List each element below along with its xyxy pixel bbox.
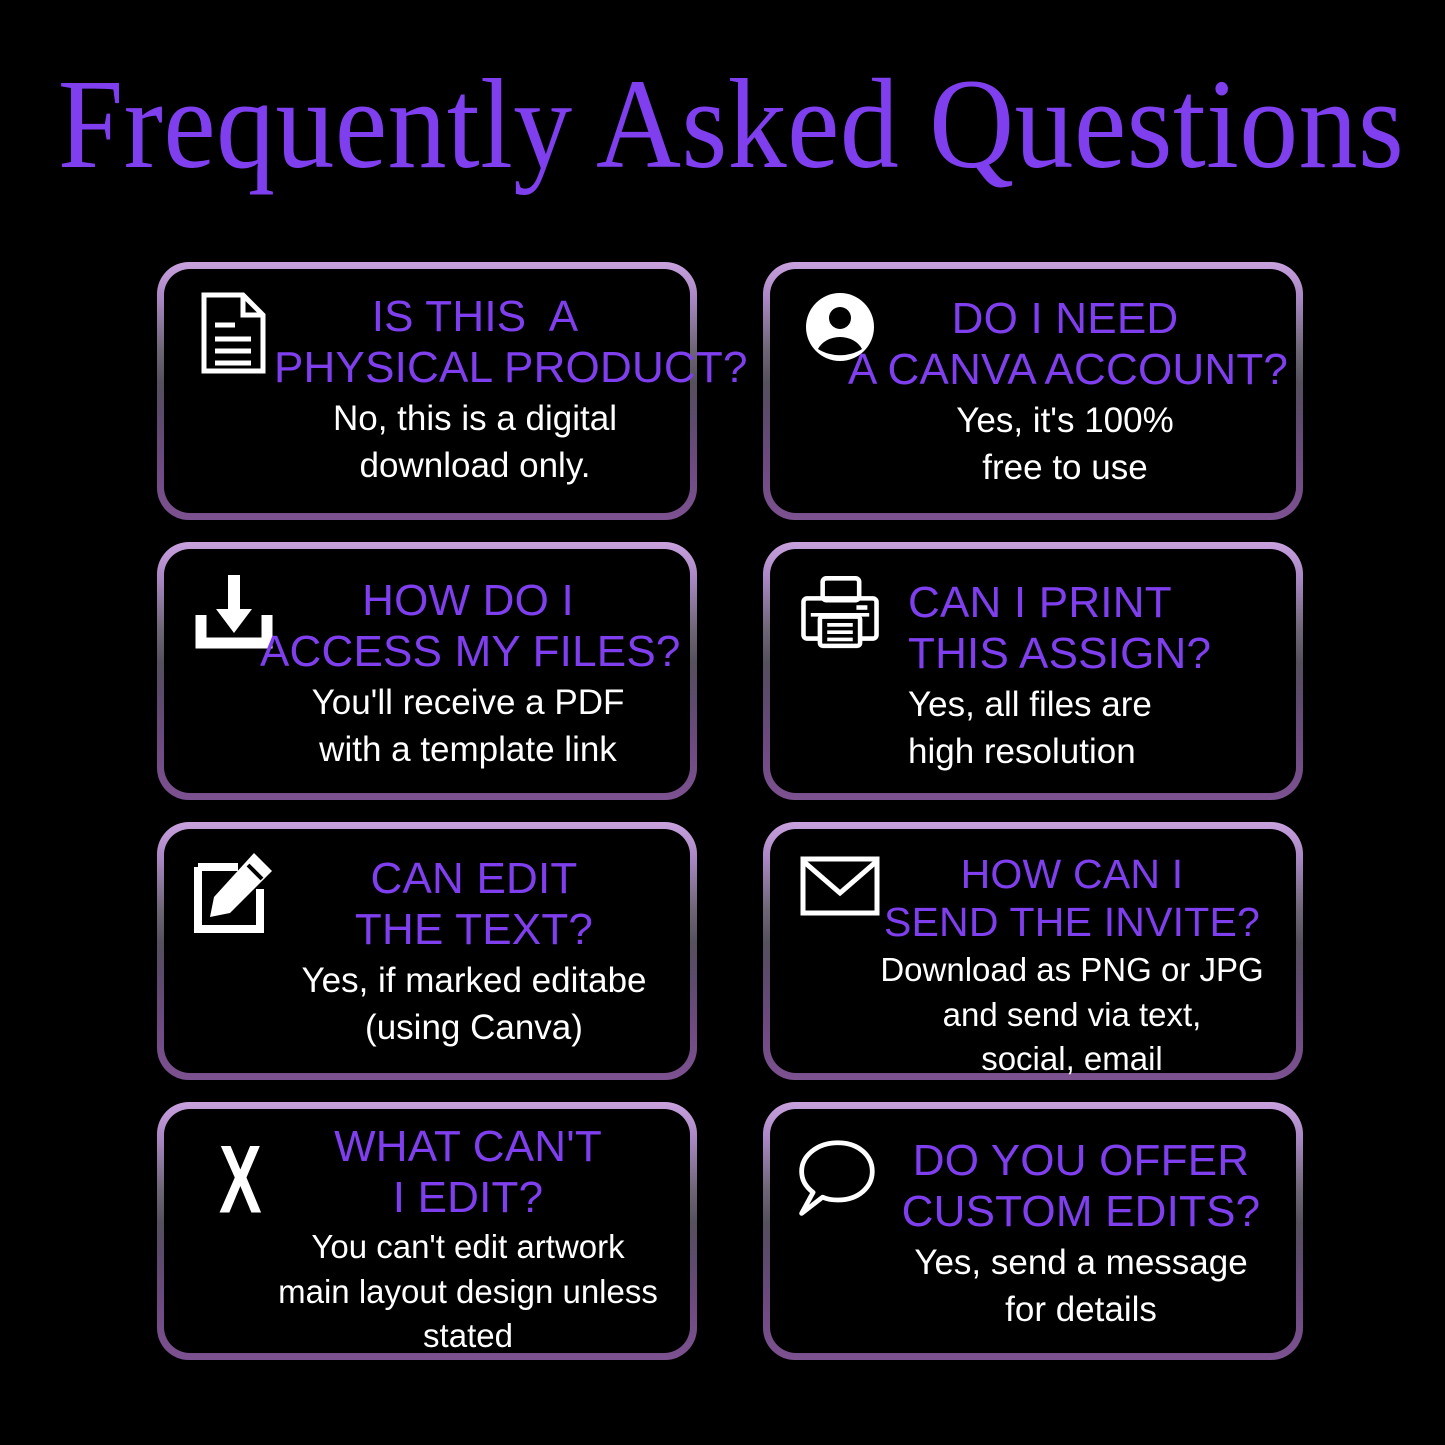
answer-line-2: for details: [880, 1288, 1282, 1331]
card-inner: DO YOU OFFER CUSTOM EDITS? Yes, send a m…: [770, 1109, 1296, 1353]
answer-line-3: stated: [260, 1316, 676, 1357]
printer-icon: [798, 571, 882, 655]
question-line-2: THE TEXT?: [272, 904, 676, 955]
card-inner: HOW DO I ACCESS MY FILES? You'll receive…: [164, 549, 690, 793]
document-icon: [192, 291, 276, 375]
card-content: CAN I PRINT THIS ASSIGN? Yes, all files …: [908, 577, 1282, 773]
answer-line-2: high resolution: [908, 730, 1282, 773]
answer-line-2: and send via text,: [862, 995, 1282, 1036]
question-line-1: IS THIS A: [274, 291, 676, 342]
faq-card-access-files: HOW DO I ACCESS MY FILES? You'll receive…: [157, 542, 697, 800]
faq-card-custom-edits: DO YOU OFFER CUSTOM EDITS? Yes, send a m…: [763, 1102, 1303, 1360]
x-glyph: X: [219, 1137, 262, 1224]
answer-line-3: social, email: [862, 1039, 1282, 1080]
question-line-2: A CANVA ACCOUNT?: [848, 344, 1282, 395]
question-line-1: CAN I PRINT: [908, 577, 1282, 628]
question-line-2: SEND THE INVITE?: [862, 899, 1282, 947]
answer-line-1: You'll receive a PDF: [260, 681, 676, 724]
card-content: WHAT CAN'T I EDIT? You can't edit artwor…: [260, 1121, 676, 1357]
answer-line-1: Yes, if marked editabe: [272, 959, 676, 1002]
faq-card-cannot-edit: X WHAT CAN'T I EDIT? You can't edit artw…: [157, 1102, 697, 1360]
faq-page: Frequently Asked Questions IS THIS A: [0, 0, 1445, 1445]
question-line-1: DO I NEED: [848, 293, 1282, 344]
answer-line-1: No, this is a digital: [274, 397, 676, 440]
answer-line-2: download only.: [274, 444, 676, 487]
answer-line-1: You can't edit artwork: [260, 1227, 676, 1268]
faq-card-grid: IS THIS A PHYSICAL PRODUCT? No, this is …: [157, 262, 1303, 1360]
page-title: Frequently Asked Questions: [58, 60, 1387, 188]
answer-line-2: (using Canva): [272, 1006, 676, 1049]
question-line-2: THIS ASSIGN?: [908, 628, 1282, 679]
card-inner: HOW CAN I SEND THE INVITE? Download as P…: [770, 829, 1296, 1073]
faq-card-edit-text: CAN EDIT THE TEXT? Yes, if marked editab…: [157, 822, 697, 1080]
answer-line-1: Yes, it's 100%: [848, 399, 1282, 442]
card-content: IS THIS A PHYSICAL PRODUCT? No, this is …: [274, 291, 676, 487]
card-inner: X WHAT CAN'T I EDIT? You can't edit artw…: [164, 1109, 690, 1353]
question-line-2: I EDIT?: [260, 1172, 676, 1223]
card-content: DO YOU OFFER CUSTOM EDITS? Yes, send a m…: [880, 1135, 1282, 1331]
card-content: HOW DO I ACCESS MY FILES? You'll receive…: [260, 575, 676, 771]
speech-bubble-icon: [794, 1135, 878, 1219]
card-inner: CAN I PRINT THIS ASSIGN? Yes, all files …: [770, 549, 1296, 793]
edit-icon: [192, 851, 276, 935]
card-content: DO I NEED A CANVA ACCOUNT? Yes, it's 100…: [848, 293, 1282, 489]
card-inner: DO I NEED A CANVA ACCOUNT? Yes, it's 100…: [770, 269, 1296, 513]
question-line-1: DO YOU OFFER: [880, 1135, 1282, 1186]
faq-card-send-invite: HOW CAN I SEND THE INVITE? Download as P…: [763, 822, 1303, 1080]
answer-line-2: free to use: [848, 446, 1282, 489]
faq-card-print: CAN I PRINT THIS ASSIGN? Yes, all files …: [763, 542, 1303, 800]
question-line-1: HOW DO I: [260, 575, 676, 626]
card-content: CAN EDIT THE TEXT? Yes, if marked editab…: [272, 853, 676, 1049]
faq-card-canva-account: DO I NEED A CANVA ACCOUNT? Yes, it's 100…: [763, 262, 1303, 520]
answer-line-1: Download as PNG or JPG: [862, 950, 1282, 991]
answer-line-2: main layout design unless: [260, 1272, 676, 1313]
question-line-1: CAN EDIT: [272, 853, 676, 904]
faq-card-physical-product: IS THIS A PHYSICAL PRODUCT? No, this is …: [157, 262, 697, 520]
answer-line-2: with a template link: [260, 728, 676, 771]
question-line-2: ACCESS MY FILES?: [260, 626, 676, 677]
card-content: HOW CAN I SEND THE INVITE? Download as P…: [862, 851, 1282, 1080]
card-inner: CAN EDIT THE TEXT? Yes, if marked editab…: [164, 829, 690, 1073]
card-inner: IS THIS A PHYSICAL PRODUCT? No, this is …: [164, 269, 690, 513]
question-line-1: HOW CAN I: [862, 851, 1282, 899]
question-line-2: CUSTOM EDITS?: [880, 1186, 1282, 1237]
question-line-1: WHAT CAN'T: [260, 1121, 676, 1172]
answer-line-1: Yes, send a message: [880, 1241, 1282, 1284]
answer-line-1: Yes, all files are: [908, 683, 1282, 726]
question-line-2: PHYSICAL PRODUCT?: [274, 342, 676, 393]
